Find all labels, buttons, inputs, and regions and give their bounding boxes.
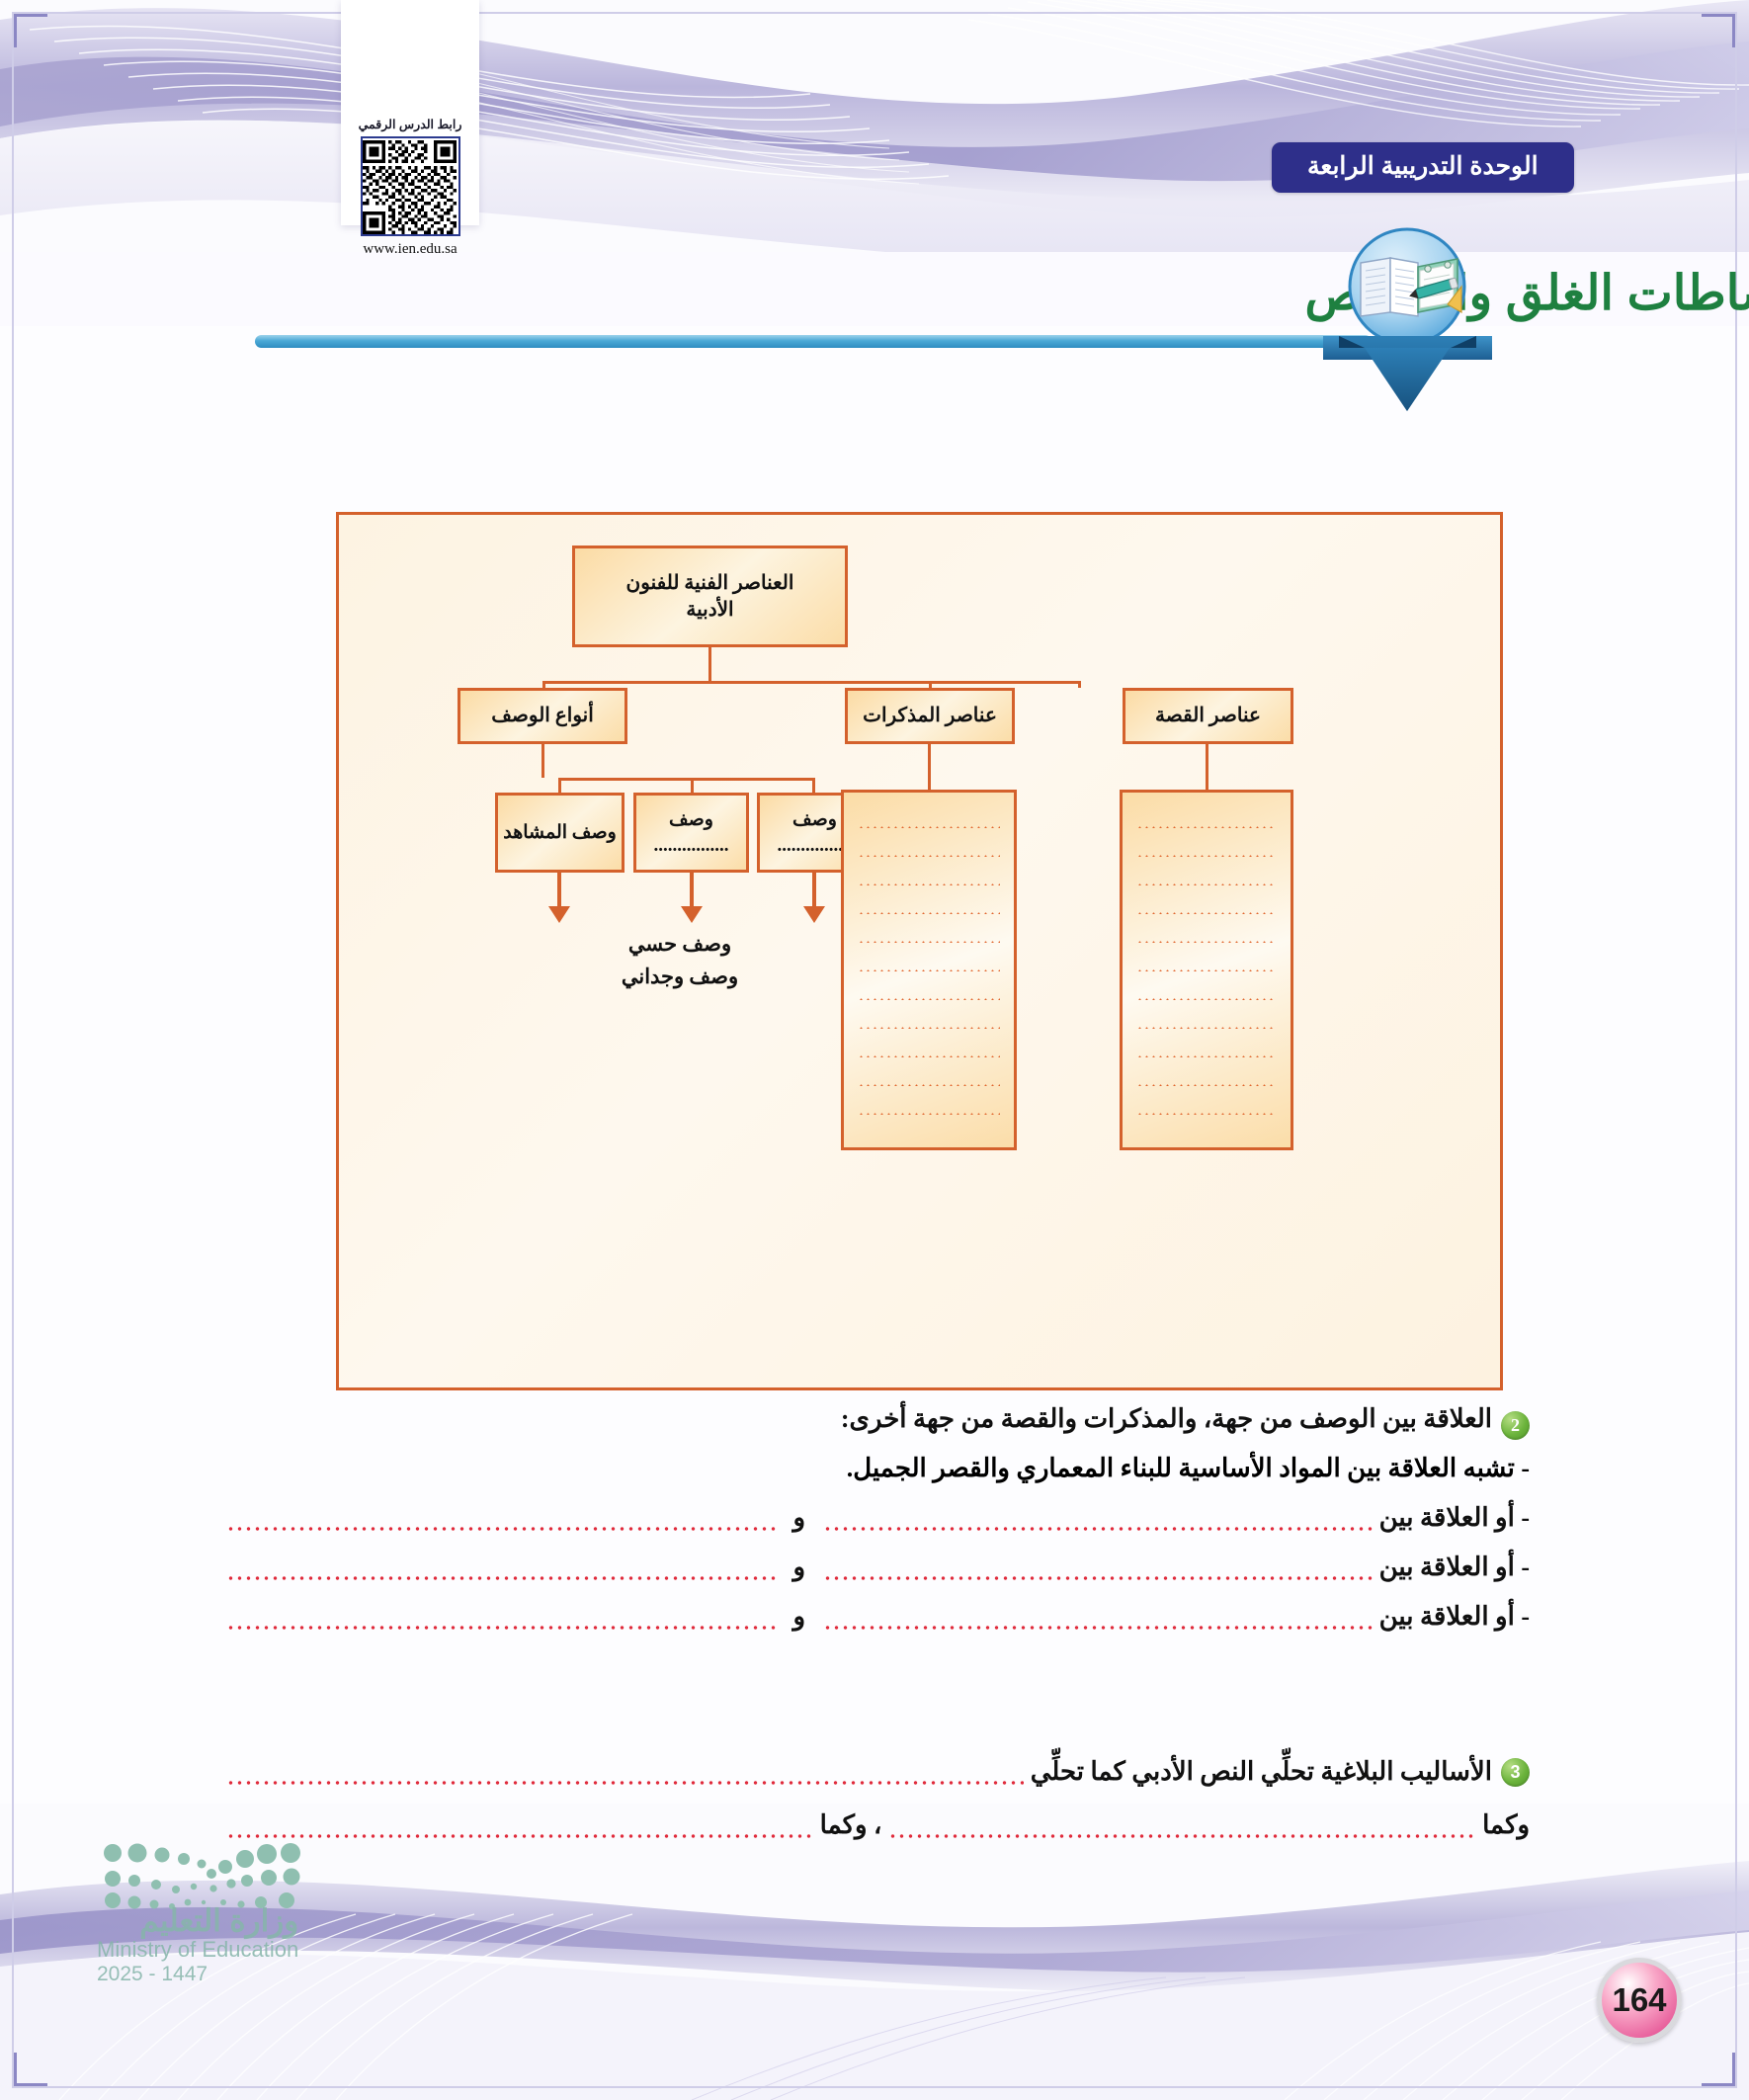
dotted-writing-line (1136, 1055, 1277, 1057)
dotted-writing-line (858, 1027, 1000, 1029)
ministry-name-english: Ministry of Education (97, 1937, 298, 1963)
answer-blank-1b[interactable] (226, 1514, 776, 1533)
diagram-node-qissa: عناصر القصة (1123, 688, 1293, 744)
dotted-writing-line (1136, 1113, 1277, 1115)
title-underline-rule (255, 335, 1372, 348)
diagram-node-wasf-almashahid: وصف المشاهد (495, 793, 625, 873)
diagram-node-wasf-blank-1: وصف ................ (633, 793, 749, 873)
dotted-writing-line (1136, 826, 1277, 828)
dotted-writing-line (858, 998, 1000, 1000)
answer-blank-q3-3[interactable] (226, 1821, 813, 1840)
diagram-leaf-label-2: وصف وجداني (487, 961, 873, 993)
qr-code-icon[interactable] (361, 136, 460, 236)
book-and-notepad-icon (1321, 225, 1494, 413)
question-2-blank-row-3[interactable]: - أو العلاقة بين و (219, 1602, 1530, 1632)
connector-wasf-stem (541, 744, 544, 778)
connector-drop-wasf-2 (691, 778, 694, 793)
diagram-node-root-line1: العناصر الفنية للفنون (626, 572, 794, 594)
connector-level2-bus (542, 681, 1081, 684)
dotted-writing-line (858, 941, 1000, 943)
diagram-leaf-labels: وصف حسي وصف وجداني (487, 928, 873, 992)
dotted-writing-line (858, 883, 1000, 885)
dotted-writing-line (1136, 883, 1277, 885)
question-3-second-row[interactable]: وكما ، وكما (219, 1810, 1530, 1840)
dotted-writing-line (1136, 969, 1277, 971)
question-3-number: 3 (1501, 1758, 1530, 1787)
answer-blank-2a[interactable] (823, 1563, 1373, 1582)
question-3-text: الأساليب البلاغية تحلِّي النص الأدبي كما… (1031, 1757, 1492, 1787)
conjunction-2: و (783, 1553, 817, 1582)
blank-label-3: - أو العلاقة بين (1379, 1602, 1530, 1632)
unit-badge: الوحدة التدريبية الرابعة (1272, 142, 1574, 193)
ministry-of-education-logo (97, 1843, 309, 1912)
question-3-heading-row[interactable]: 3 الأساليب البلاغية تحلِّي النص الأدبي ك… (219, 1757, 1530, 1787)
ministry-text-block: وزارة التعليم Ministry of Education 2025… (97, 1903, 298, 1986)
qr-card-url[interactable]: www.ien.edu.sa (363, 241, 457, 258)
question-2-blank-row-2[interactable]: - أو العلاقة بين و (219, 1553, 1530, 1582)
ministry-name-arabic: وزارة التعليم (97, 1903, 298, 1939)
connector-drop-wasf-3 (812, 778, 815, 793)
dotted-writing-line (858, 1113, 1000, 1115)
connector-muthakirat-to-box (928, 744, 931, 790)
connector-root-stem (708, 647, 711, 681)
connector-drop-qissa (1078, 681, 1081, 688)
dotted-writing-line (1136, 998, 1277, 1000)
dotted-writing-line (1136, 1084, 1277, 1086)
diagram-node-wasf-almashahid-label: وصف المشاهد (503, 820, 617, 846)
dotted-writing-line (858, 1084, 1000, 1086)
dotted-writing-line (1136, 1027, 1277, 1029)
arrow-down-icon-1 (548, 873, 570, 923)
dotted-writing-line (858, 969, 1000, 971)
dotted-writing-line (858, 855, 1000, 857)
question-2-heading: 2العلاقة بين الوصف من جهة، والمذكرات وال… (219, 1404, 1530, 1440)
diagram-node-wasf-blank-2-line1: وصف (792, 809, 837, 830)
blank-label-2: - أو العلاقة بين (1379, 1553, 1530, 1582)
concept-map-panel: العناصر الفنية للفنون الأدبية عناصر القص… (336, 512, 1503, 1390)
ministry-year: 2025 - 1447 (97, 1963, 298, 1986)
question-2-text: العلاقة بين الوصف من جهة، والمذكرات والق… (841, 1404, 1492, 1433)
answer-blank-3b[interactable] (226, 1613, 776, 1632)
diagram-answer-box-muthakirat[interactable] (841, 790, 1017, 1150)
answer-blank-q3-1[interactable] (226, 1768, 1024, 1787)
dotted-writing-line (858, 826, 1000, 828)
arrow-down-icon-2 (681, 873, 703, 923)
page-root: رابط الدرس الرقمي (0, 0, 1749, 2100)
answer-blank-q3-2[interactable] (888, 1821, 1475, 1840)
diagram-node-wasf-blank-1-line2: ................ (654, 835, 729, 856)
connector-drop-muthakirat (929, 681, 932, 688)
dotted-writing-line (1136, 912, 1277, 914)
diagram-node-root-line2: الأدبية (686, 599, 733, 621)
question-2-block: 2العلاقة بين الوصف من جهة، والمذكرات وال… (219, 1404, 1530, 1632)
arrow-down-icon-3 (803, 873, 825, 923)
connector-drop-wasf (542, 681, 545, 688)
question-3-row2-mid: ، وكما (820, 1810, 882, 1840)
answer-blank-1a[interactable] (823, 1514, 1373, 1533)
dotted-writing-line (1136, 941, 1277, 943)
connector-qissa-to-box (1206, 744, 1208, 790)
conjunction-1: و (783, 1503, 817, 1533)
connector-wasf-bus (558, 778, 815, 781)
conjunction-3: و (783, 1602, 817, 1632)
diagram-leaf-label-1: وصف حسي (487, 928, 873, 961)
answer-blank-2b[interactable] (226, 1563, 776, 1582)
page-number-badge: 164 (1597, 1958, 1682, 2043)
qr-card-label: رابط الدرس الرقمي (359, 117, 462, 131)
digital-lesson-qr-card[interactable]: رابط الدرس الرقمي (341, 0, 479, 225)
question-2-blank-row-1[interactable]: - أو العلاقة بين و (219, 1503, 1530, 1533)
answer-blank-3a[interactable] (823, 1613, 1373, 1632)
diagram-node-anwa-alwasf: أنواع الوصف (458, 688, 627, 744)
diagram-node-root: العناصر الفنية للفنون الأدبية (572, 546, 848, 647)
dotted-writing-line (858, 1055, 1000, 1057)
diagram-node-muthakirat: عناصر المذكرات (845, 688, 1015, 744)
question-2-bullet: - تشبه العلاقة بين المواد الأساسية للبنا… (219, 1454, 1530, 1483)
connector-drop-wasf-1 (558, 778, 561, 793)
dotted-writing-line (858, 912, 1000, 914)
diagram-node-wasf-blank-1-line1: وصف (669, 809, 713, 830)
question-3-row2-start: وكما (1482, 1810, 1530, 1840)
question-3-block: 3 الأساليب البلاغية تحلِّي النص الأدبي ك… (219, 1757, 1530, 1840)
dotted-writing-line (1136, 855, 1277, 857)
diagram-answer-box-qissa[interactable] (1120, 790, 1293, 1150)
question-2-number: 2 (1501, 1411, 1530, 1440)
blank-label-1: - أو العلاقة بين (1379, 1503, 1530, 1533)
